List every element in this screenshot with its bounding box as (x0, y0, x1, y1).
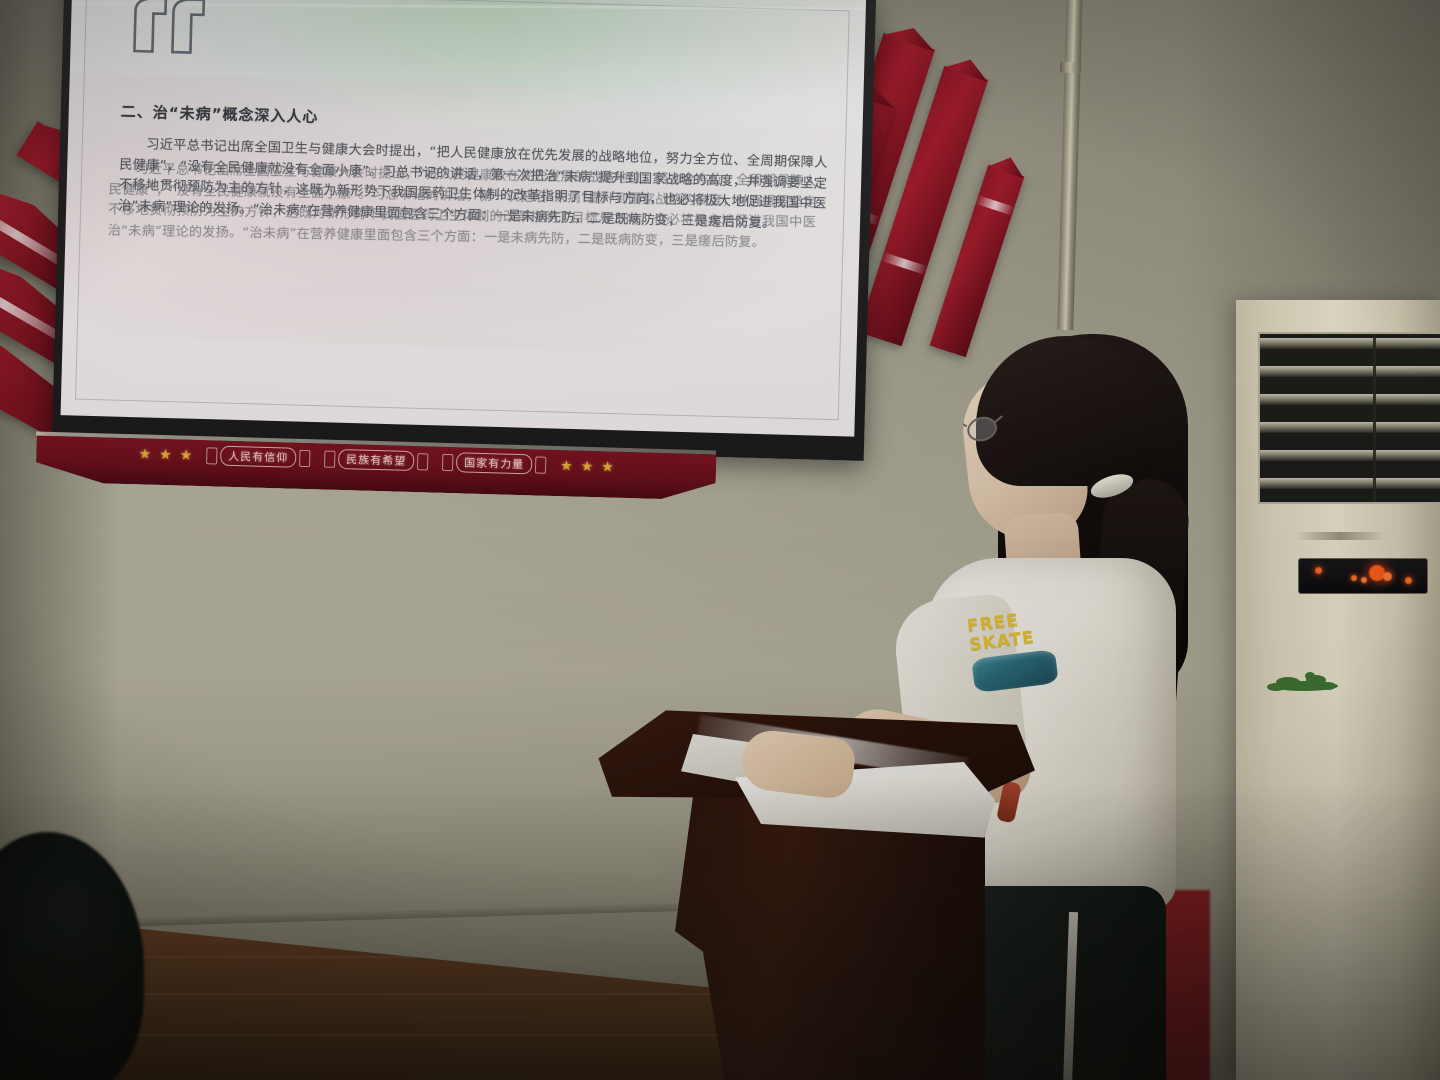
plaque-knot-icon (417, 453, 428, 470)
star-icon: ★ (138, 446, 151, 460)
slogan-text-2: 民族有希望 (338, 449, 415, 471)
pipe-collar (1060, 62, 1081, 74)
photo-scene: 二、治“未病”概念深入人心 习近平总书记出席全国卫生与健康大会时提出，“把人民健… (0, 0, 1440, 1080)
slogan-plaque-2: 民族有希望 (324, 449, 429, 472)
star-icon: ★ (601, 459, 614, 473)
lower-room-shadow (0, 780, 1440, 1080)
slide-text-block: 二、治“未病”概念深入人心 习近平总书记出席全国卫生与健康大会时提出，“把人民健… (118, 101, 829, 249)
slide-body: 习近平总书记出席全国卫生与健康大会时提出，“把人民健康放在优先发展的战略地位，努… (118, 135, 828, 236)
projection-screen[interactable]: 二、治“未病”概念深入人心 习近平总书记出席全国卫生与健康大会时提出，“把人民健… (52, 0, 876, 461)
plaque-knot-icon (442, 453, 453, 470)
slogan-plaque-3: 国家有力量 (442, 452, 547, 475)
stars-right: ★ ★ ★ (560, 458, 614, 473)
star-icon: ★ (560, 458, 573, 472)
led-display-panel[interactable] (1298, 558, 1428, 594)
ac-brand-label (1294, 532, 1386, 540)
stars-left: ★ ★ ★ (138, 446, 192, 461)
star-icon: ★ (180, 448, 193, 462)
slogan-text-3: 国家有力量 (456, 452, 533, 474)
plaque-knot-icon (206, 447, 217, 464)
plaque-knot-icon (299, 449, 310, 466)
skateboard-graphic (971, 649, 1059, 693)
plaque-knot-icon (324, 450, 335, 467)
quote-mark-icon (130, 0, 212, 59)
slide-surface: 二、治“未病”概念深入人心 习近平总书记出席全国卫生与健康大会时提出，“把人民健… (61, 0, 867, 437)
star-icon: ★ (159, 447, 172, 461)
slogan-plaque-1: 人民有信仰 (206, 445, 311, 468)
star-icon: ★ (581, 459, 594, 473)
slogan-text-1: 人民有信仰 (220, 446, 297, 468)
plaque-knot-icon (535, 456, 546, 473)
